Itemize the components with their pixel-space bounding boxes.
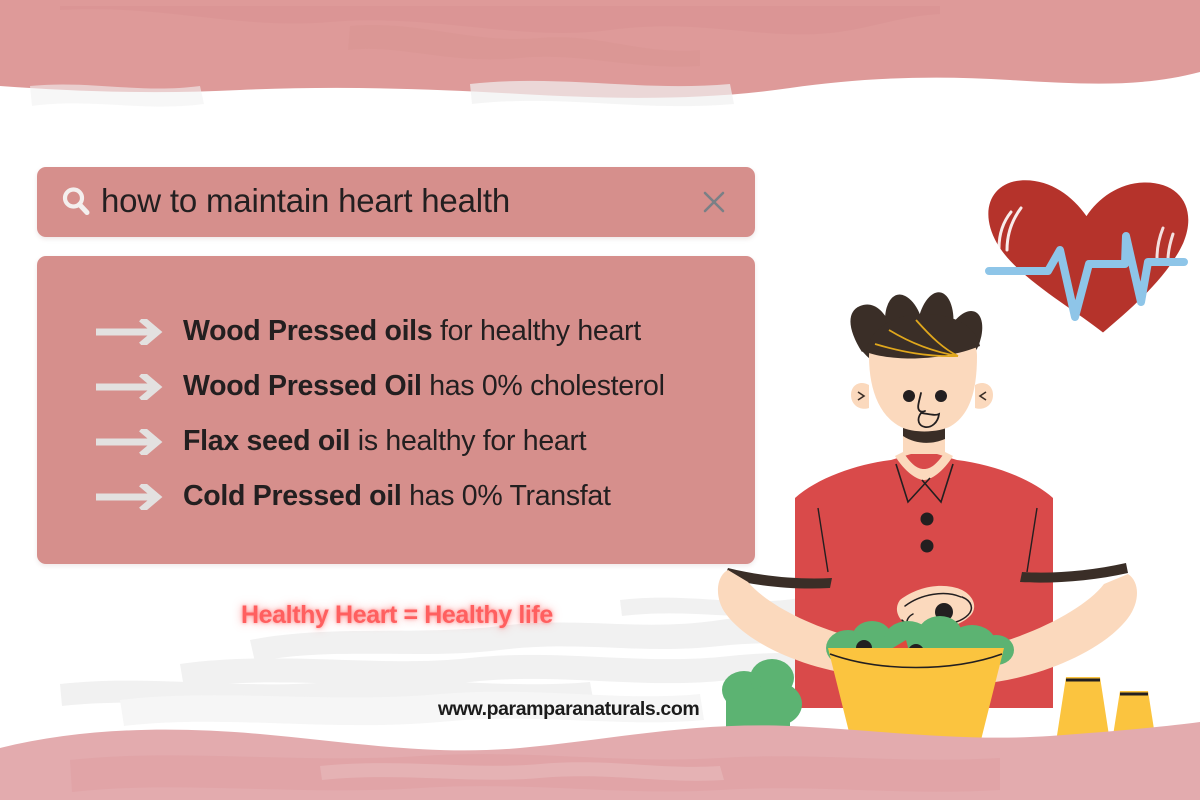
list-item-bold: Cold Pressed oil	[183, 480, 402, 512]
list-item: Wood Pressed Oil has 0% cholesterol	[37, 359, 755, 414]
list-item-text: Cold Pressed oil has 0% Transfat	[183, 482, 611, 511]
search-bar[interactable]: how to maintain heart health	[37, 167, 755, 237]
list-item: Wood Pressed oils for healthy heart	[37, 304, 755, 359]
list-item-rest: has 0% cholesterol	[422, 370, 665, 402]
list-item-text: Wood Pressed Oil has 0% cholesterol	[183, 372, 665, 401]
benefits-panel: Wood Pressed oils for healthy heart Wood…	[37, 256, 755, 564]
search-icon	[59, 185, 93, 219]
list-item-bold: Wood Pressed Oil	[183, 370, 422, 402]
list-item-text: Flax seed oil is healthy for heart	[183, 427, 586, 456]
list-item-rest: for healthy heart	[432, 315, 640, 347]
salad-greens	[826, 616, 1014, 666]
arrow-right-icon	[94, 374, 166, 400]
arrow-right-icon	[94, 319, 166, 345]
list-item-rest: has 0% Transfat	[402, 480, 611, 512]
person-tossing-salad-illustration	[718, 290, 1137, 708]
top-banner-brushstroke	[0, 0, 1200, 98]
list-item: Flax seed oil is healthy for heart	[37, 414, 755, 469]
list-item-bold: Flax seed oil	[183, 425, 350, 457]
arrow-right-icon	[94, 429, 166, 455]
list-item-bold: Wood Pressed oils	[183, 315, 432, 347]
site-url: www.paramparanaturals.com	[438, 698, 699, 721]
close-icon[interactable]	[699, 187, 729, 217]
arrow-right-icon	[94, 484, 166, 510]
salt-and-pepper-shakers	[1056, 677, 1156, 742]
heartbeat-icon	[988, 180, 1188, 332]
bottom-banner-brushstroke	[0, 722, 1200, 800]
leafy-plant	[722, 659, 802, 733]
list-item-rest: is healthy for heart	[350, 425, 586, 457]
hair	[842, 290, 990, 377]
list-item-text: Wood Pressed oils for healthy heart	[183, 317, 641, 346]
list-item: Cold Pressed oil has 0% Transfat	[37, 469, 755, 524]
search-input[interactable]: how to maintain heart health	[101, 184, 699, 220]
poster-canvas: how to maintain heart health Wood Presse…	[0, 0, 1200, 800]
salad-bowl	[826, 616, 1014, 752]
tagline: Healthy Heart = Healthy life	[241, 601, 553, 630]
